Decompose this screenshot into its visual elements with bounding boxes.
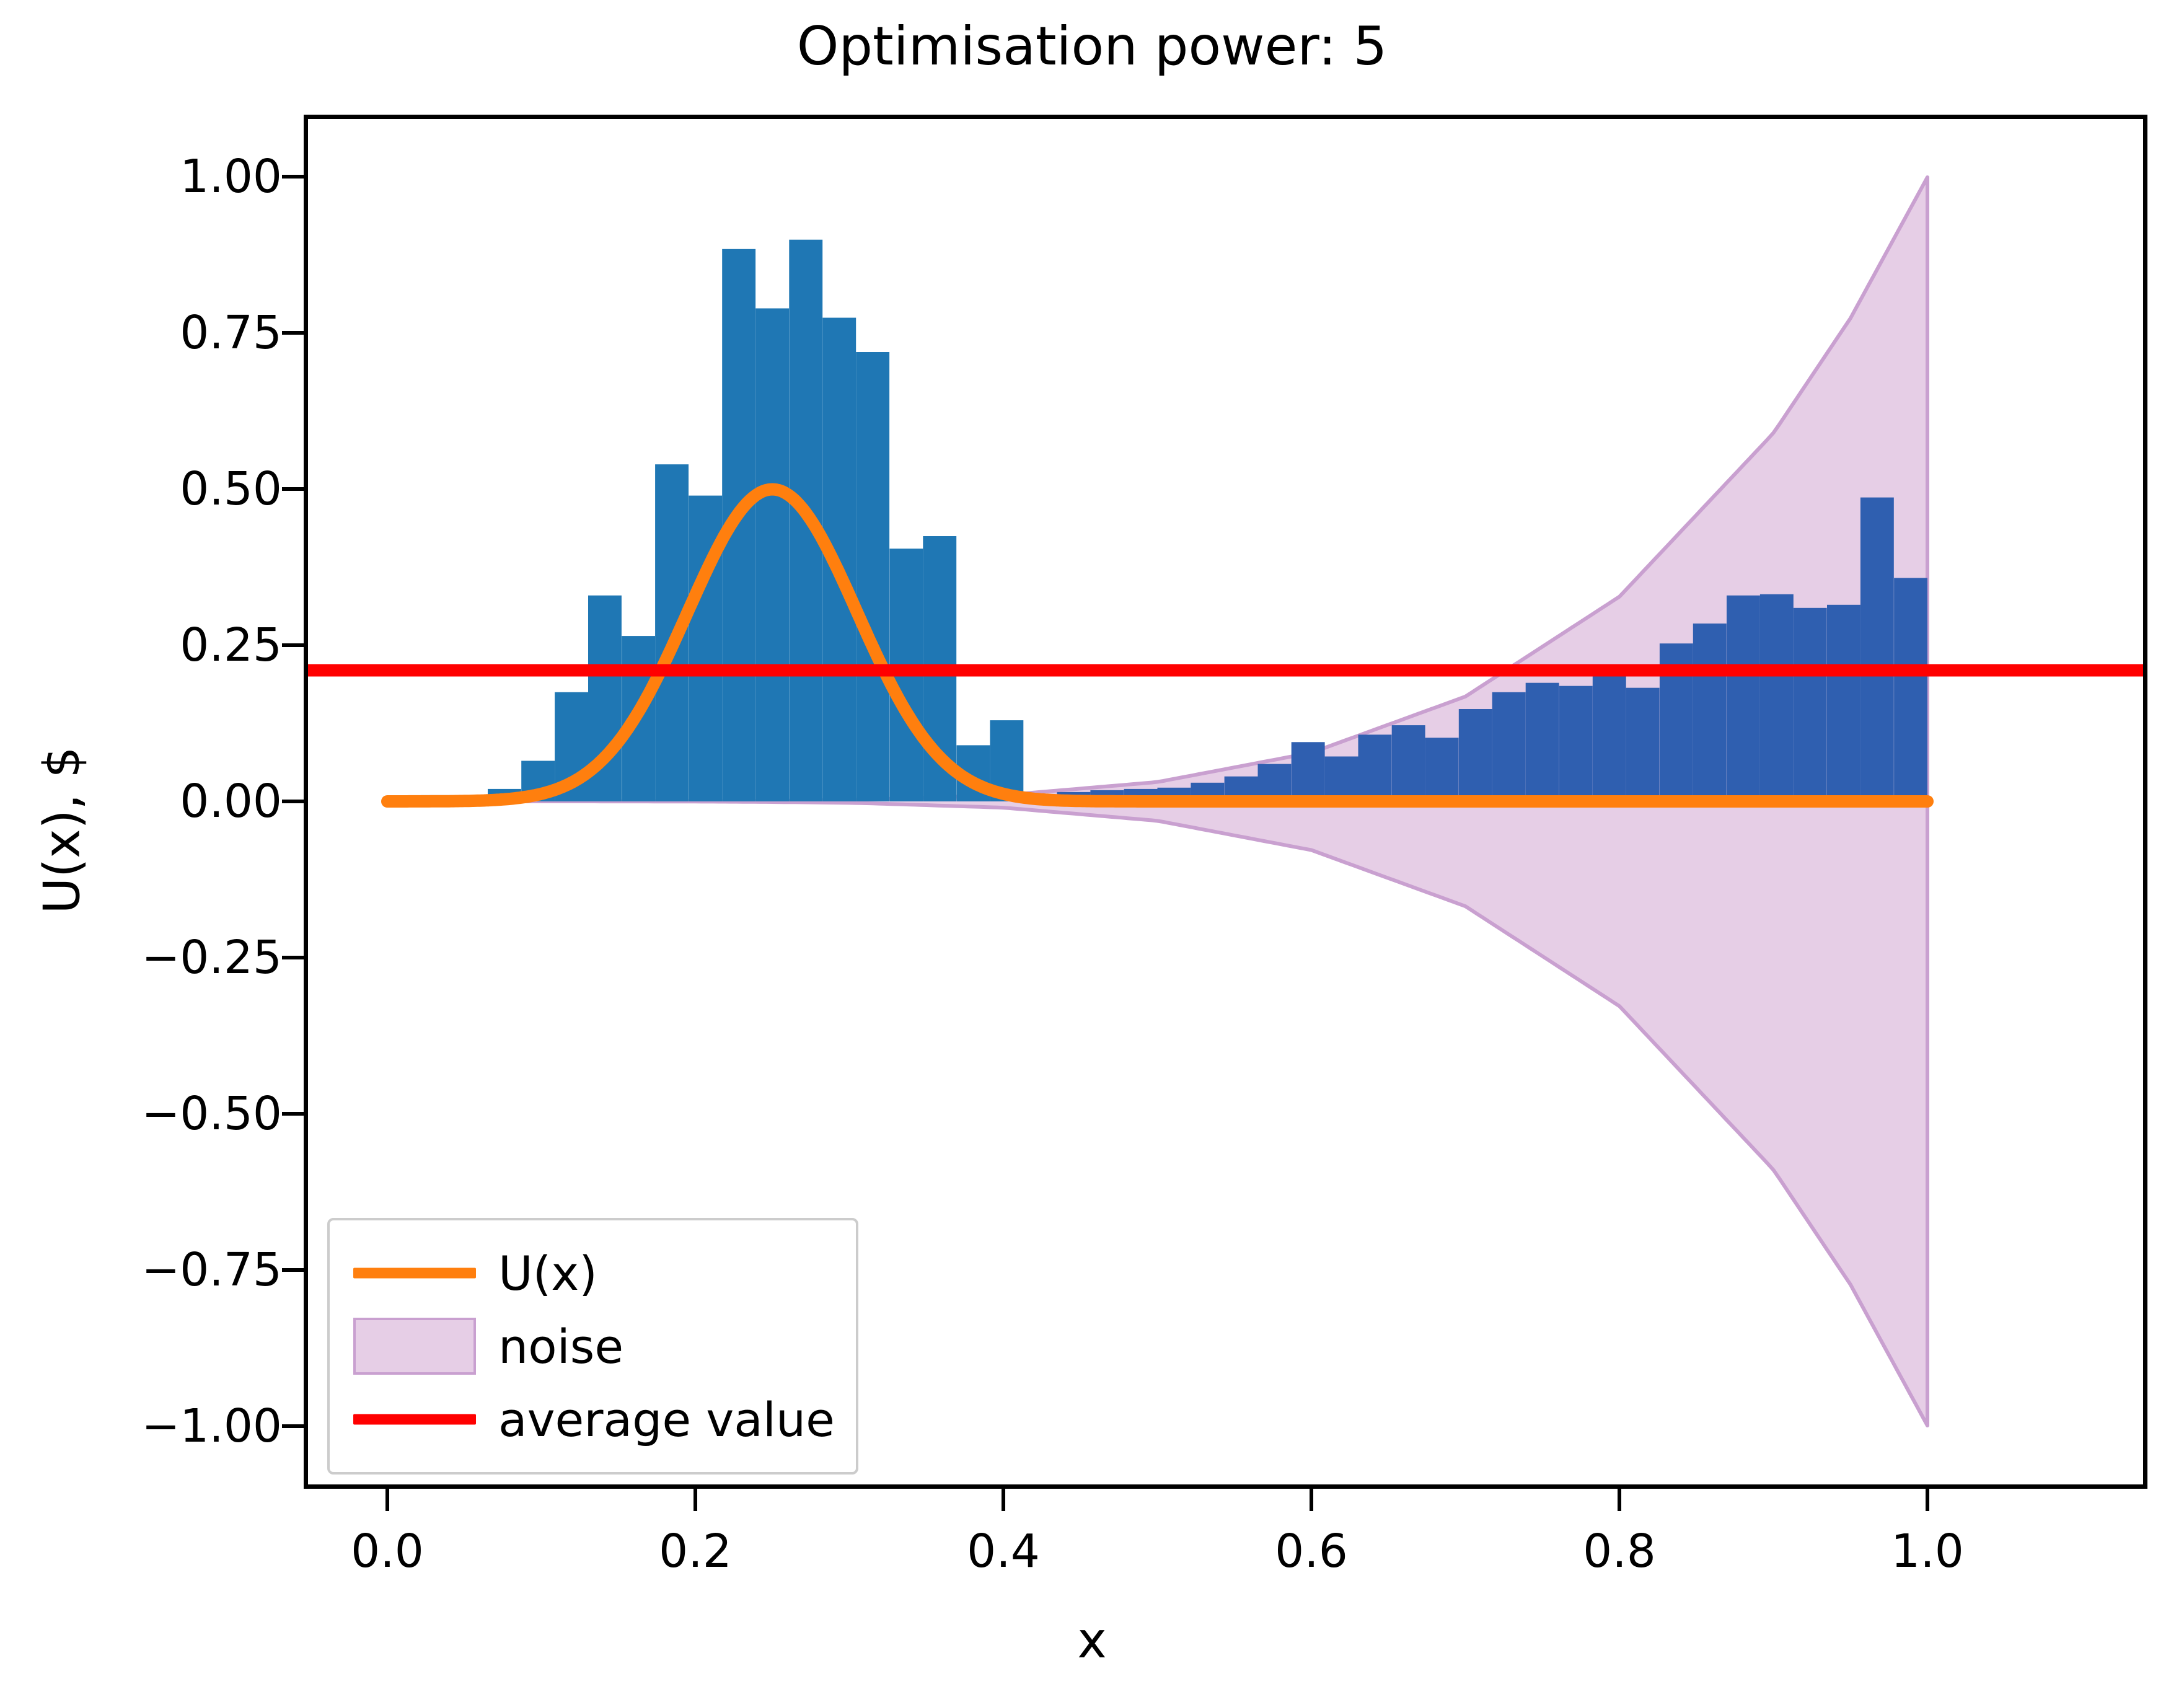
- legend-item-u[interactable]: U(x): [347, 1237, 835, 1310]
- y-tick-label-6: −0.25: [59, 931, 282, 984]
- y-tick-label-2: 0.75: [59, 306, 282, 359]
- x-tick-mark: [1310, 1489, 1313, 1511]
- y-tick-label-1: 1.00: [59, 150, 282, 203]
- y-tick-mark: [282, 1112, 304, 1116]
- x-tick-mark: [385, 1489, 389, 1511]
- y-axis-label: U(x), $: [33, 583, 91, 1078]
- y-tick-label-9: −1.00: [59, 1400, 282, 1453]
- chart-legend[interactable]: U(x) noise average value: [327, 1218, 858, 1475]
- y-tick-mark: [282, 643, 304, 647]
- y-tick-mark: [282, 487, 304, 491]
- histogram-light-group: [421, 240, 1023, 801]
- legend-label-average: average value: [498, 1392, 835, 1447]
- legend-label-u: U(x): [498, 1246, 597, 1301]
- legend-line-icon-u: [347, 1254, 482, 1292]
- y-tick-mark: [282, 800, 304, 803]
- figure-canvas: Optimisation power: 5 1.00 0.75 0.50 0.2…: [0, 0, 2184, 1684]
- legend-item-noise[interactable]: noise: [347, 1310, 835, 1383]
- x-tick-mark: [1618, 1489, 1621, 1511]
- y-tick-label-7: −0.50: [59, 1087, 282, 1140]
- x-tick-label-3: 0.4: [910, 1525, 1096, 1578]
- legend-label-noise: noise: [498, 1319, 623, 1374]
- y-tick-mark: [282, 1424, 304, 1428]
- y-tick-mark: [282, 1268, 304, 1272]
- chart-title: Optimisation power: 5: [0, 17, 2184, 76]
- x-tick-label-2: 0.2: [602, 1525, 788, 1578]
- x-axis-label: x: [0, 1611, 2184, 1669]
- x-tick-label-5: 0.8: [1526, 1525, 1712, 1578]
- legend-line-icon-average: [347, 1401, 482, 1438]
- x-tick-label-1: 0.0: [294, 1525, 480, 1578]
- legend-patch-icon-noise: [347, 1328, 482, 1365]
- y-tick-mark: [282, 331, 304, 335]
- y-tick-mark: [282, 956, 304, 959]
- y-tick-label-3: 0.50: [59, 462, 282, 516]
- y-tick-label-8: −0.75: [59, 1243, 282, 1297]
- x-tick-mark: [1002, 1489, 1005, 1511]
- x-tick-label-6: 1.0: [1834, 1525, 2020, 1578]
- y-tick-label-5: 0.00: [59, 775, 282, 828]
- x-tick-label-4: 0.6: [1218, 1525, 1404, 1578]
- legend-item-average[interactable]: average value: [347, 1383, 835, 1456]
- y-tick-label-4: 0.25: [59, 619, 282, 672]
- y-tick-mark: [282, 175, 304, 179]
- x-tick-mark: [1926, 1489, 1929, 1511]
- x-tick-mark: [694, 1489, 697, 1511]
